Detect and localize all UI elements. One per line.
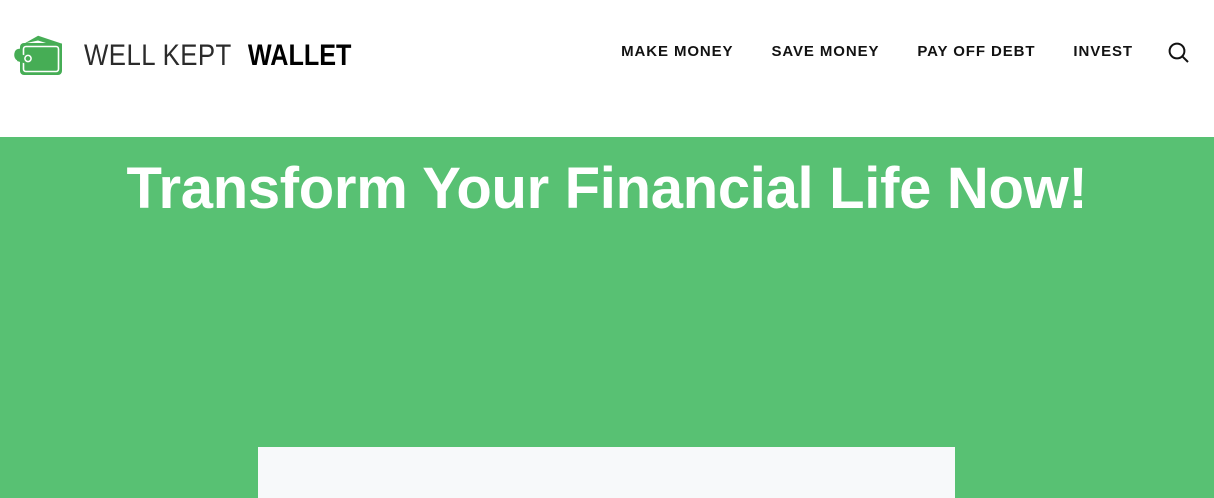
nav-item-save-money[interactable]: SAVE MONEY <box>752 42 898 62</box>
search-icon <box>1166 40 1192 66</box>
hero-section: Transform Your Financial Life Now! Join … <box>0 137 1214 498</box>
nav-item-invest[interactable]: INVEST <box>1054 42 1152 62</box>
logo-text-thin: WELL KEPT <box>84 41 232 71</box>
logo-text-bold: WALLET <box>248 41 352 71</box>
nav-item-pay-off-debt[interactable]: PAY OFF DEBT <box>898 42 1054 62</box>
main-navigation: MAKE MONEY SAVE MONEY PAY OFF DEBT INVES… <box>602 42 1152 62</box>
hero-heading: Transform Your Financial Life Now! <box>0 159 1214 220</box>
site-logo[interactable]: WELL KEPT WALLET <box>8 30 361 82</box>
search-button[interactable] <box>1166 40 1192 66</box>
wallet-icon <box>8 31 68 81</box>
optin-card: Join Our Free 5-Day Money Masterclass <box>258 447 955 498</box>
optin-card-heading: Join Our Free 5-Day Money Masterclass <box>258 447 955 498</box>
nav-item-make-money[interactable]: MAKE MONEY <box>602 42 752 62</box>
page-root: WELL KEPT WALLET MAKE MONEY SAVE MONEY P… <box>0 0 1214 498</box>
logo-wordmark: WELL KEPT WALLET <box>72 41 361 71</box>
site-header: WELL KEPT WALLET MAKE MONEY SAVE MONEY P… <box>0 0 1214 137</box>
